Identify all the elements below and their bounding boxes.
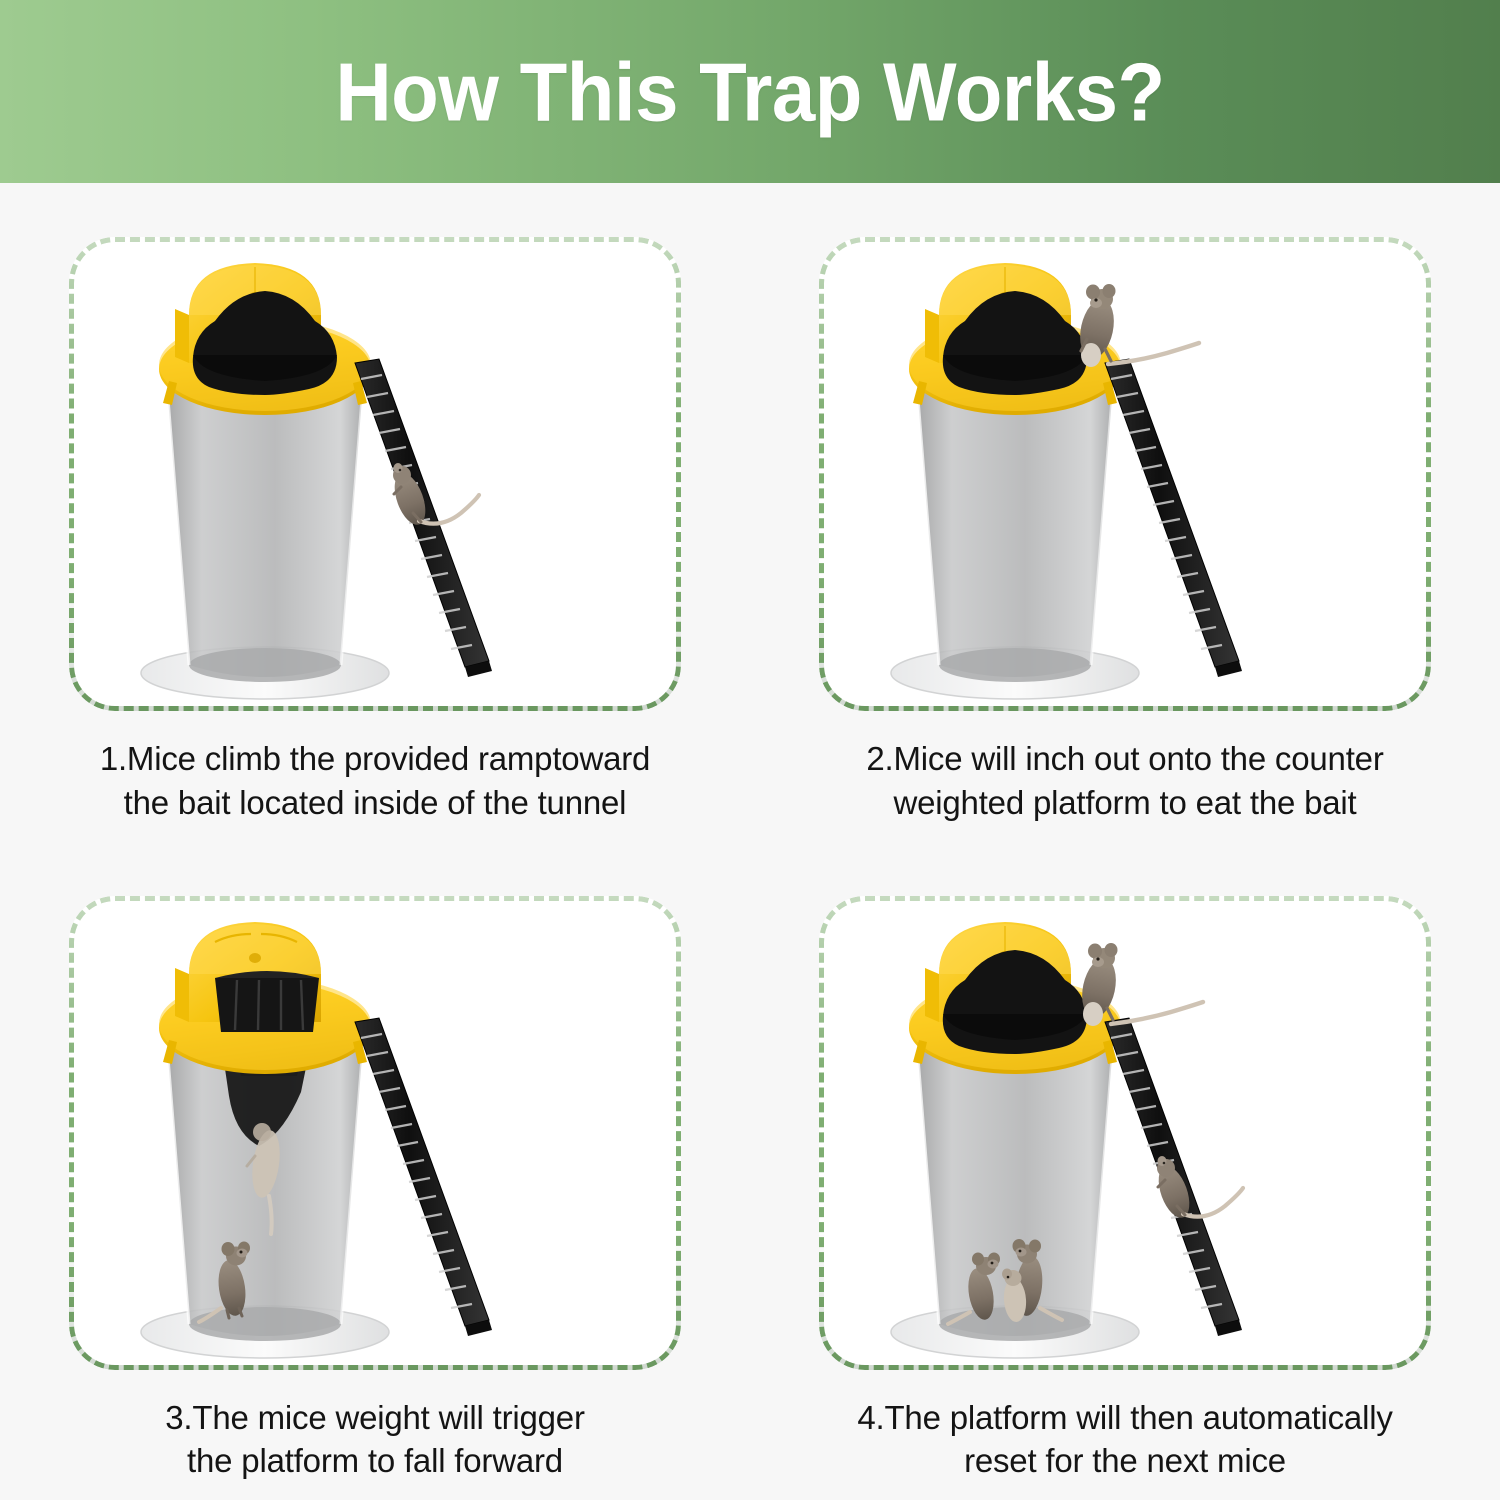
caption-line-2: the bait located inside of the tunnel xyxy=(65,781,685,825)
panel-step-3-card xyxy=(69,896,681,1370)
panel-step-1: 1.Mice climb the provided ramptoward the… xyxy=(0,183,750,842)
steps-grid: 1.Mice climb the provided ramptoward the… xyxy=(0,183,1500,1500)
panel-step-2: 2.Mice will inch out onto the counter we… xyxy=(750,183,1500,842)
caption-line-2: the platform to fall forward xyxy=(65,1439,685,1483)
header-banner: How This Trap Works? xyxy=(0,0,1500,183)
caption-line-1: 2.Mice will inch out onto the counter xyxy=(866,740,1383,777)
page-title: How This Trap Works? xyxy=(335,50,1164,133)
panel-step-4-caption: 4.The platform will then automatically r… xyxy=(815,1396,1435,1483)
panel-step-2-caption: 2.Mice will inch out onto the counter we… xyxy=(815,737,1435,824)
panel-step-2-card xyxy=(819,237,1431,711)
trap-illustration-1 xyxy=(69,237,681,711)
trap-illustration-3 xyxy=(69,896,681,1370)
panel-step-1-card xyxy=(69,237,681,711)
caption-line-2: reset for the next mice xyxy=(815,1439,1435,1483)
caption-line-1: 3.The mice weight will trigger xyxy=(165,1399,585,1436)
trap-illustration-4 xyxy=(819,896,1431,1370)
caption-line-1: 4.The platform will then automatically xyxy=(857,1399,1392,1436)
panel-step-3: 3.The mice weight will trigger the platf… xyxy=(0,842,750,1500)
panel-step-4: 4.The platform will then automatically r… xyxy=(750,842,1500,1500)
panel-step-4-card xyxy=(819,896,1431,1370)
trap-illustration-2 xyxy=(819,237,1431,711)
infographic-page: How This Trap Works? xyxy=(0,0,1500,1500)
panel-step-1-caption: 1.Mice climb the provided ramptoward the… xyxy=(65,737,685,824)
caption-line-1: 1.Mice climb the provided ramptoward xyxy=(100,740,650,777)
caption-line-2: weighted platform to eat the bait xyxy=(815,781,1435,825)
panel-step-3-caption: 3.The mice weight will trigger the platf… xyxy=(65,1396,685,1483)
